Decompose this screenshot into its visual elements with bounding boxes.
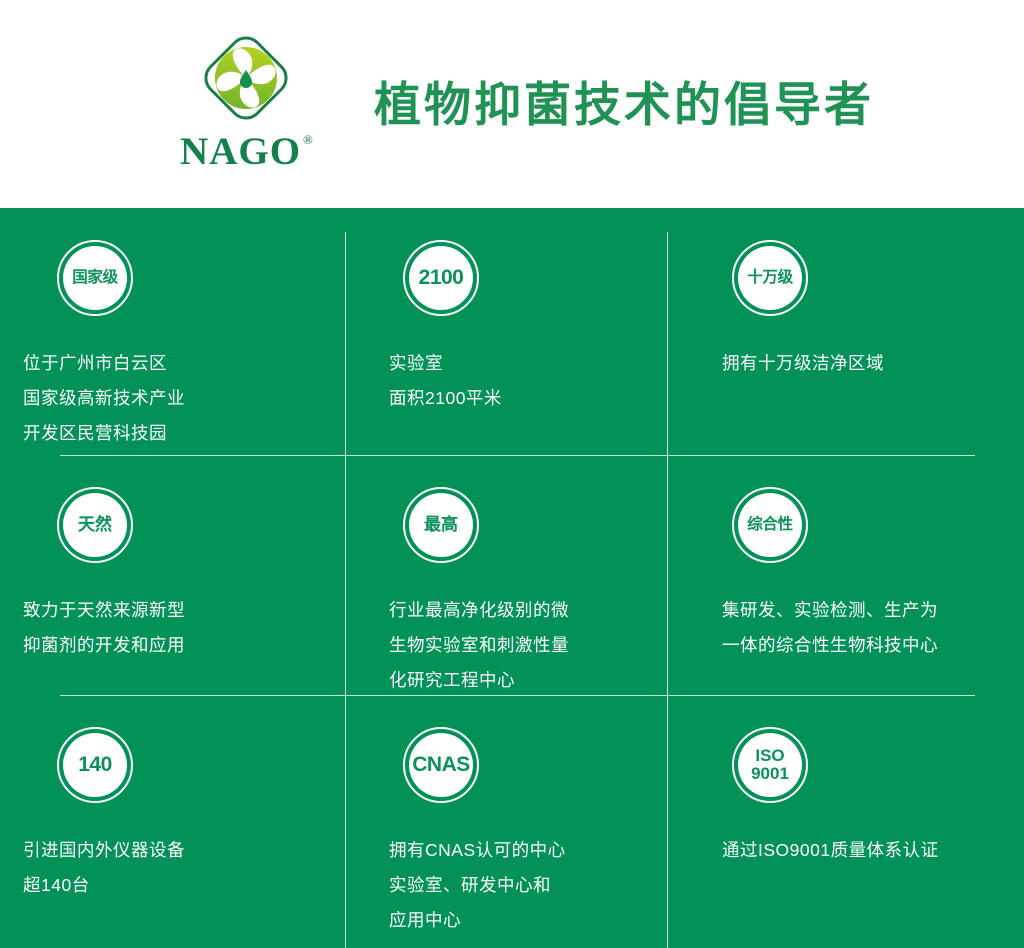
highlight-description: 行业最高净化级别的微 生物实验室和刺激性量 化研究工程中心 — [389, 593, 667, 698]
highlight-description: 致力于天然来源新型 抑菌剂的开发和应用 — [23, 593, 345, 663]
badge-label: ISO 9001 — [751, 747, 789, 784]
highlight-description: 引进国内外仪器设备 超140台 — [23, 833, 345, 903]
grid-divider-horizontal-1 — [60, 455, 975, 456]
badge-inner: 国家级 — [63, 246, 127, 310]
badge-inner: 十万级 — [738, 246, 802, 310]
badge-label: CNAS — [412, 754, 470, 776]
badge-label: 十万级 — [747, 270, 793, 286]
badge-inner: CNAS — [409, 733, 473, 797]
highlight-cell-cnas: CNAS 拥有CNAS认可的中心 实验室、研发中心和 应用中心 — [345, 695, 667, 948]
badge-label: 综合性 — [747, 517, 793, 533]
highlight-cell-highest-grade: 最高 行业最高净化级别的微 生物实验室和刺激性量 化研究工程中心 — [345, 455, 667, 695]
badge-hundred-thousand-grade: 十万级 — [732, 240, 808, 316]
badge-national-grade: 国家级 — [57, 240, 133, 316]
grid-divider-vertical-2 — [667, 232, 668, 948]
badge-140: 140 — [57, 727, 133, 803]
grid-divider-vertical-1 — [345, 232, 346, 948]
page-header: NAGO® 植物抑菌技术的倡导者 — [0, 0, 1024, 208]
badge-label: 最高 — [424, 516, 458, 534]
highlight-description: 通过ISO9001质量体系认证 — [722, 833, 1024, 868]
highlight-cell-national-grade: 国家级 位于广州市白云区 国家级高新技术产业 开发区民营科技园 — [0, 208, 345, 455]
highlight-description: 实验室 面积2100平米 — [389, 346, 667, 416]
nago-flower-logo-icon — [194, 26, 298, 130]
badge-natural: 天然 — [57, 487, 133, 563]
brand-wordmark: NAGO® — [180, 132, 312, 171]
page-title: 植物抑菌技术的倡导者 — [374, 78, 874, 132]
badge-inner: 2100 — [409, 246, 473, 310]
highlight-cell-cleanroom: 十万级 拥有十万级洁净区域 — [667, 208, 1024, 455]
badge-2100: 2100 — [403, 240, 479, 316]
badge-inner: 综合性 — [738, 493, 802, 557]
highlight-cell-lab-area: 2100 实验室 面积2100平米 — [345, 208, 667, 455]
highlight-cell-natural: 天然 致力于天然来源新型 抑菌剂的开发和应用 — [0, 455, 345, 695]
brand-wordmark-text: NAGO — [180, 130, 301, 173]
badge-comprehensive: 综合性 — [732, 487, 808, 563]
badge-inner: 最高 — [409, 493, 473, 557]
highlight-cell-iso9001: ISO 9001 通过ISO9001质量体系认证 — [667, 695, 1024, 948]
badge-label: 140 — [78, 754, 112, 776]
highlight-cell-comprehensive: 综合性 集研发、实验检测、生产为 一体的综合性生物科技中心 — [667, 455, 1024, 695]
highlight-description: 拥有CNAS认可的中心 实验室、研发中心和 应用中心 — [389, 833, 667, 938]
badge-highest: 最高 — [403, 487, 479, 563]
badge-inner: ISO 9001 — [738, 733, 802, 797]
badge-iso-9001: ISO 9001 — [732, 727, 808, 803]
badge-label: 2100 — [419, 267, 464, 289]
highlights-panel: 国家级 位于广州市白云区 国家级高新技术产业 开发区民营科技园 2100 实验室… — [0, 208, 1024, 948]
registered-trademark-icon: ® — [303, 132, 314, 147]
badge-label: 天然 — [78, 516, 112, 534]
highlight-description: 集研发、实验检测、生产为 一体的综合性生物科技中心 — [722, 593, 1024, 663]
grid-divider-horizontal-2 — [60, 695, 975, 696]
highlight-description: 拥有十万级洁净区域 — [722, 346, 1024, 381]
badge-label: 国家级 — [72, 270, 118, 286]
highlight-description: 位于广州市白云区 国家级高新技术产业 开发区民营科技园 — [23, 346, 345, 451]
brand-logo: NAGO® — [170, 26, 322, 186]
highlights-grid: 国家级 位于广州市白云区 国家级高新技术产业 开发区民营科技园 2100 实验室… — [0, 208, 1024, 948]
badge-cnas: CNAS — [403, 727, 479, 803]
highlight-cell-equipment: 140 引进国内外仪器设备 超140台 — [0, 695, 345, 948]
badge-inner: 140 — [63, 733, 127, 797]
badge-inner: 天然 — [63, 493, 127, 557]
